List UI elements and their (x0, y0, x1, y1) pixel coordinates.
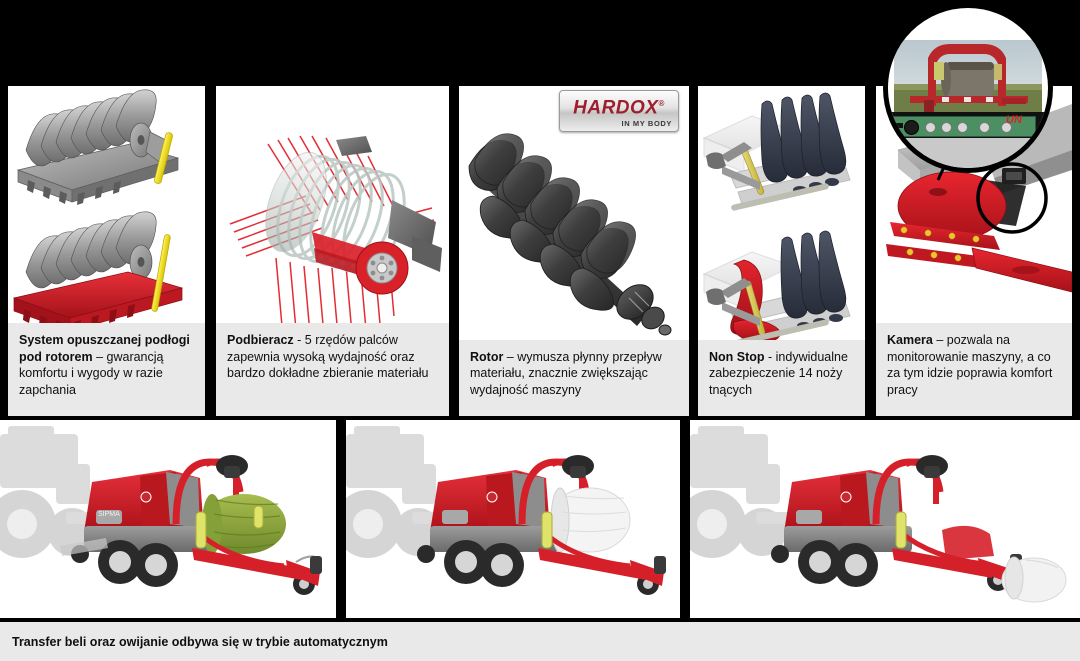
feature-panel-rotor[interactable]: HARDOX® IN MY BODY (459, 86, 689, 416)
pickup-illustration (216, 86, 449, 323)
bottom-caption-bar: Transfer beli oraz owijanie odbywa się w… (0, 622, 1080, 661)
monitor-button-3[interactable] (957, 122, 968, 133)
bottom-caption-text: Transfer beli oraz owijanie odbywa się w… (12, 635, 388, 649)
monitor-slot (894, 123, 903, 128)
feature-caption: Kamera – pozwala na monitorowanie maszyn… (876, 323, 1072, 416)
baler-wrapper-green-bale-illustration: SIPMA (0, 420, 336, 618)
hardox-registered-mark: ® (658, 99, 664, 108)
feature-caption: Rotor – wymusza płynny przepływ materiał… (459, 340, 689, 416)
feature-panel-non-stop[interactable]: Non Stop - indywidualne zabezpieczenie 1… (698, 86, 865, 416)
knife-protection-illustration (698, 86, 865, 340)
feature-caption: System opuszczanej podłogi pod rotorem –… (8, 323, 205, 416)
monitor-button-2[interactable] (941, 122, 952, 133)
photo-sequence-row: SIPMA (0, 420, 1080, 618)
svg-text:SIPMA: SIPMA (98, 511, 120, 518)
photo-baler-wrapper-bale-released[interactable] (690, 420, 1080, 618)
monitor-housing (888, 138, 1048, 168)
feature-caption-title: Rotor (470, 350, 503, 364)
pickup-tine-drum-illustration (216, 86, 449, 323)
camera-feed-screenshot (894, 40, 1042, 114)
monitor-power-knob[interactable] (904, 120, 919, 135)
rotor-illustration: HARDOX® IN MY BODY (459, 86, 689, 340)
hardox-badge: HARDOX® IN MY BODY (559, 90, 679, 132)
monitor-button-4[interactable] (979, 122, 990, 133)
rotor-floor-assembly-illustration (8, 86, 205, 323)
feature-caption: Non Stop - indywidualne zabezpieczenie 1… (698, 340, 865, 416)
photo-baler-wrapper-white-bale[interactable] (346, 420, 680, 618)
monitor-brand-label: UN (1006, 114, 1022, 126)
hardox-badge-name: HARDOX (573, 98, 658, 119)
baler-wrapper-bale-released-illustration (690, 420, 1080, 618)
feature-caption: Podbieracz - 5 rzędów palców zapewnia wy… (216, 323, 449, 416)
feature-caption-title: Kamera (887, 333, 933, 347)
floor-drop-system-illustration (8, 86, 205, 323)
non-stop-illustration (698, 86, 865, 340)
baler-wrapper-white-bale-illustration (346, 420, 680, 618)
product-feature-infographic: System opuszczanej podłogi pod rotorem –… (0, 0, 1080, 661)
monitor-button-1[interactable] (925, 122, 936, 133)
camera-monitor-closeup-magnifier: UN (884, 4, 1052, 172)
feature-caption-title: Podbieracz (227, 333, 294, 347)
feature-panel-pickup[interactable]: Podbieracz - 5 rzędów palców zapewnia wy… (216, 86, 449, 416)
hardox-badge-tagline: IN MY BODY (622, 119, 672, 128)
feature-caption-title: Non Stop (709, 350, 765, 364)
feature-panel-floor-drop-system[interactable]: System opuszczanej podłogi pod rotorem –… (8, 86, 205, 416)
photo-baler-wrapper-green-bale[interactable]: SIPMA (0, 420, 336, 618)
